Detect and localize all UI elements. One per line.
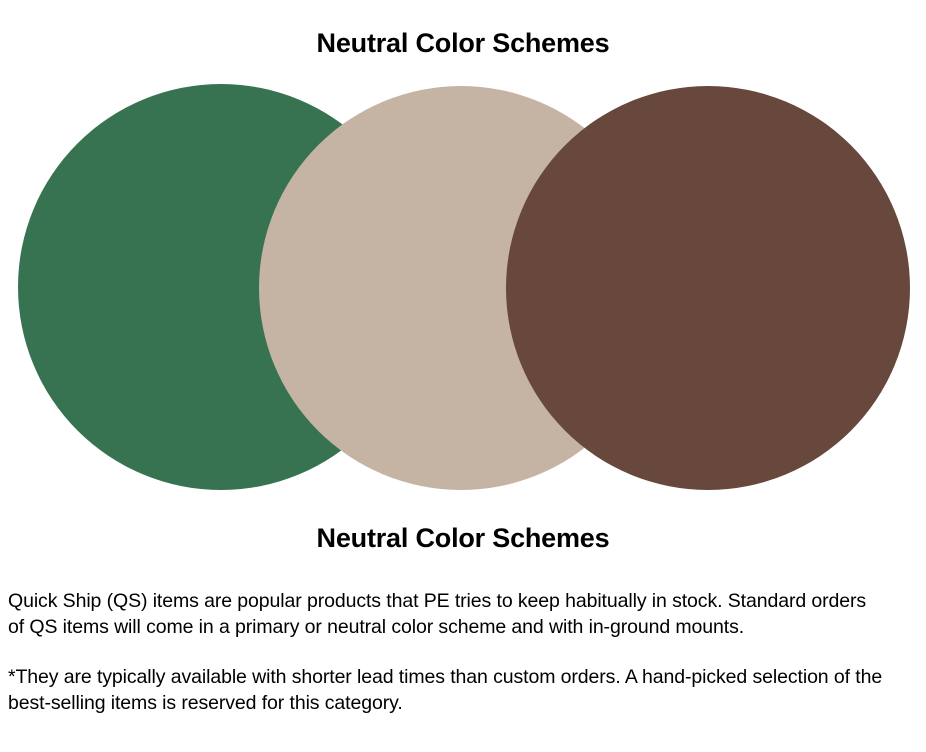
body-paragraph-1: Quick Ship (QS) items are popular produc… — [8, 589, 880, 640]
paragraph-spacer — [8, 640, 908, 665]
page-title-bottom: Neutral Color Schemes — [0, 522, 926, 554]
color-swatch-group — [0, 0, 926, 510]
slide-page: Neutral Color Schemes Neutral Color Sche… — [0, 0, 926, 752]
body-paragraph-2: *They are typically available with short… — [8, 665, 886, 716]
color-swatch-brown — [506, 86, 910, 490]
body-copy: Quick Ship (QS) items are popular produc… — [8, 589, 908, 716]
